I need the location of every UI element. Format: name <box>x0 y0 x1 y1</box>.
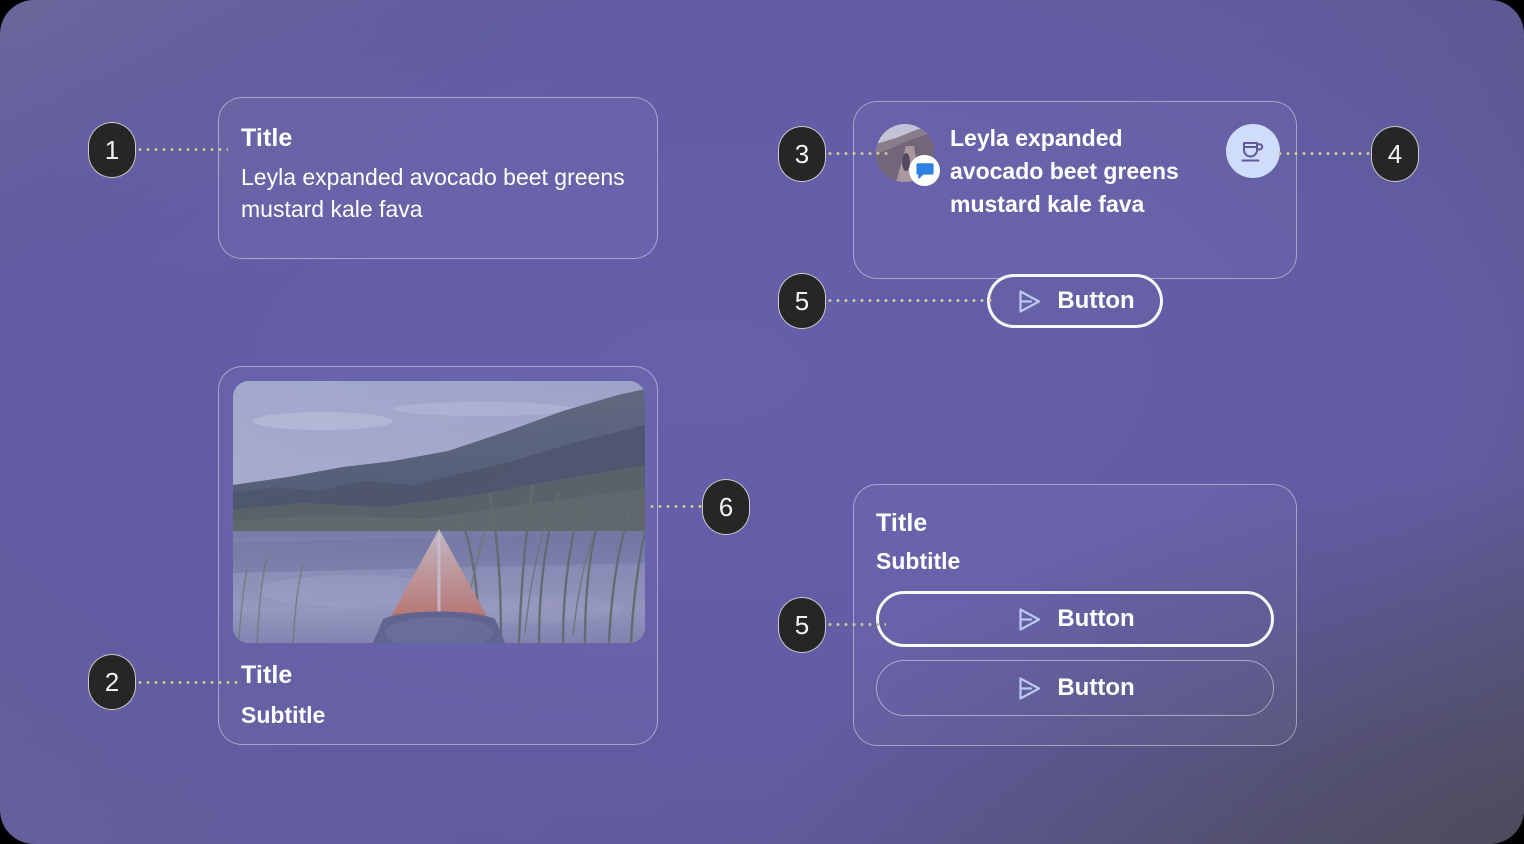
actions-card[interactable]: Title Subtitle Button Button <box>853 484 1297 746</box>
annotation-badge-4-number: 4 <box>1388 139 1402 170</box>
send-icon <box>1015 674 1044 703</box>
media-card-title: Title <box>241 661 643 690</box>
annotation-badge-6-number: 6 <box>719 492 733 523</box>
send-icon <box>1015 287 1044 316</box>
connector-5a <box>826 299 994 302</box>
actions-card-first-button[interactable]: Button <box>876 591 1274 647</box>
annotation-badge-4[interactable]: 4 <box>1371 126 1419 182</box>
content-layer: Title Leyla expanded avocado beet greens… <box>0 0 1524 844</box>
send-icon <box>1015 605 1044 634</box>
actions-card-second-button[interactable]: Button <box>876 660 1274 716</box>
avatar-card-button-label: Button <box>1057 287 1134 315</box>
media-card-thumbnail[interactable] <box>233 381 645 643</box>
annotation-badge-5-bottom-number: 5 <box>795 610 809 641</box>
actions-card-second-button-label: Button <box>1057 674 1134 702</box>
coffee-cup-icon <box>1238 136 1268 166</box>
actions-card-subtitle: Subtitle <box>876 548 1274 576</box>
basic-card[interactable]: Title Leyla expanded avocado beet greens… <box>218 97 658 259</box>
annotation-badge-2[interactable]: 2 <box>88 654 136 710</box>
connector-4 <box>1276 152 1372 155</box>
annotation-badge-5-top-number: 5 <box>795 286 809 317</box>
avatar-card-text-block: Leyla expanded avocado beet greens musta… <box>950 122 1180 221</box>
avatar-card-button[interactable]: Button <box>987 274 1163 328</box>
basic-card-body: Leyla expanded avocado beet greens musta… <box>241 161 631 226</box>
kayak-lake-image <box>233 381 645 643</box>
actions-card-title: Title <box>876 509 1274 538</box>
annotation-badge-5-top[interactable]: 5 <box>778 273 826 329</box>
avatar-card-action-icon[interactable] <box>1226 124 1280 178</box>
actions-card-button-stack: Button Button <box>876 591 1274 716</box>
chat-bubble-icon <box>909 155 940 186</box>
annotation-badge-2-number: 2 <box>105 667 119 698</box>
annotation-badge-6[interactable]: 6 <box>702 479 750 535</box>
screenshot-root: Title Leyla expanded avocado beet greens… <box>0 0 1524 844</box>
avatar-card[interactable]: Leyla expanded avocado beet greens musta… <box>853 101 1297 279</box>
avatar-card-row: Leyla expanded avocado beet greens musta… <box>876 122 1278 221</box>
chat-bubble-glyph <box>915 161 935 181</box>
connector-3 <box>826 152 888 155</box>
annotation-badge-5-bottom[interactable]: 5 <box>778 597 826 653</box>
annotation-badge-1[interactable]: 1 <box>88 122 136 178</box>
avatar-card-body: Leyla expanded avocado beet greens musta… <box>950 122 1180 221</box>
connector-5b <box>826 623 886 626</box>
connector-6 <box>648 505 708 508</box>
annotation-badge-1-number: 1 <box>105 135 119 166</box>
basic-card-title: Title <box>241 124 631 153</box>
actions-card-first-button-label: Button <box>1057 605 1134 633</box>
connector-1 <box>136 148 228 151</box>
media-card-subtitle: Subtitle <box>241 702 643 730</box>
annotation-badge-3[interactable]: 3 <box>778 126 826 182</box>
connector-2 <box>136 681 238 684</box>
annotation-badge-3-number: 3 <box>795 139 809 170</box>
media-card[interactable]: Title Subtitle <box>218 366 658 745</box>
